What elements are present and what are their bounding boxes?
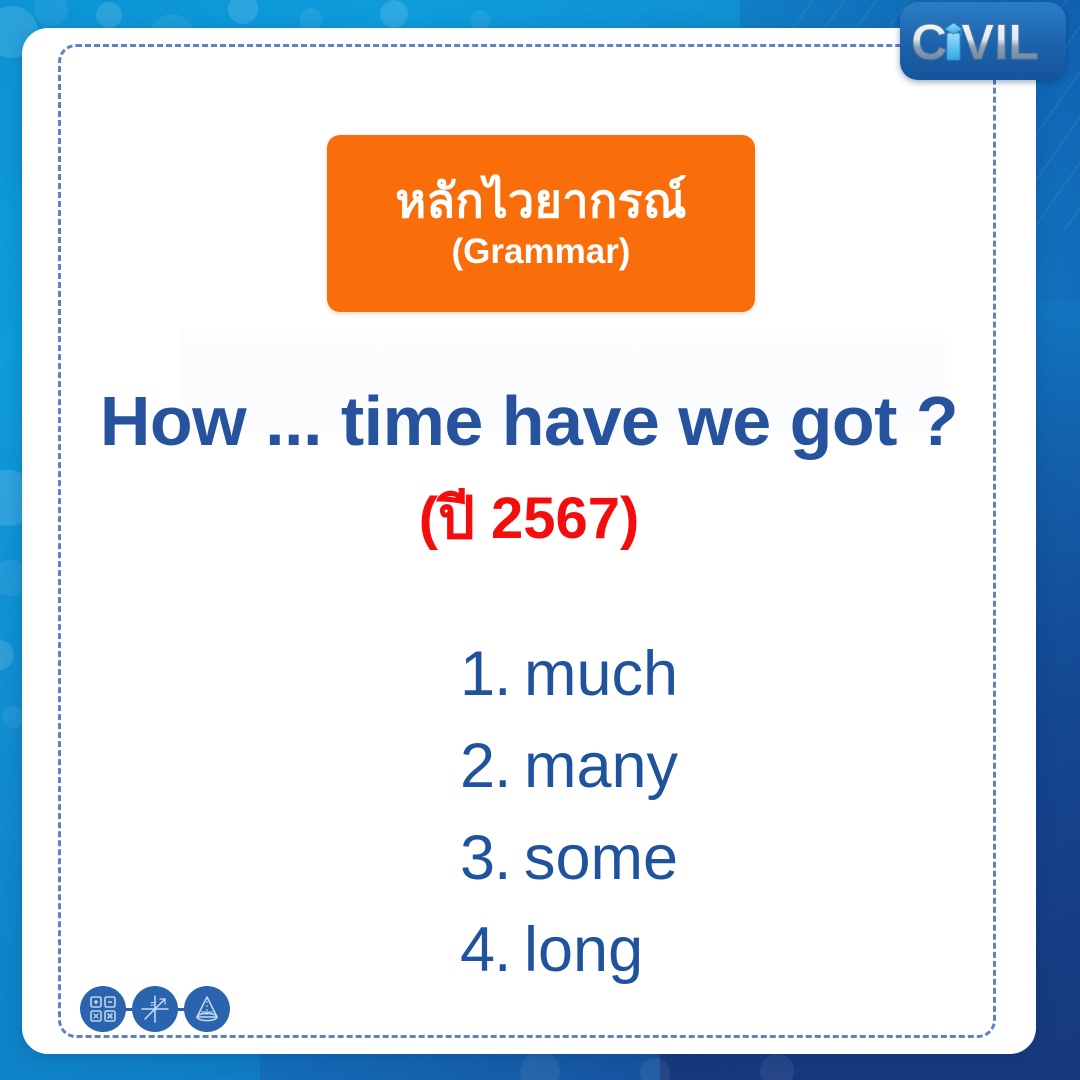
answer-choice-label: long <box>524 904 643 996</box>
answer-choice-1[interactable]: 1. much <box>460 628 678 720</box>
bokeh-circle <box>96 2 122 28</box>
content-card: หลักไวยากรณ์ (Grammar) How ... time have… <box>22 28 1036 1054</box>
answer-choice-label: many <box>524 720 678 812</box>
civil-logo-mark: C VIL <box>909 13 1057 69</box>
category-title-box: หลักไวยากรณ์ (Grammar) <box>327 135 755 312</box>
answer-choice-number: 1. <box>460 628 524 720</box>
coordinate-axes-icon <box>132 986 178 1032</box>
answer-choice-label: much <box>524 628 678 720</box>
bokeh-circle <box>380 0 408 28</box>
bokeh-circle <box>470 10 490 30</box>
poster-canvas: หลักไวยากรณ์ (Grammar) How ... time have… <box>0 0 1080 1080</box>
answer-choice-3[interactable]: 3. some <box>460 812 678 904</box>
bokeh-circle <box>2 706 24 728</box>
bokeh-circle <box>34 0 68 26</box>
bokeh-circle <box>0 640 14 670</box>
answer-choice-2[interactable]: 2. many <box>460 720 678 812</box>
calculator-icon <box>80 986 126 1032</box>
answer-choice-list: 1. much 2. many 3. some 4. long <box>460 628 678 996</box>
answer-choice-number: 3. <box>460 812 524 904</box>
bokeh-circle <box>300 8 322 30</box>
answer-choice-number: 2. <box>460 720 524 812</box>
bokeh-circle <box>760 1054 794 1080</box>
svg-text:C: C <box>911 14 947 69</box>
answer-choice-4[interactable]: 4. long <box>460 904 678 996</box>
bokeh-circle <box>520 1052 560 1080</box>
category-title-english: (Grammar) <box>452 233 631 272</box>
bokeh-circle <box>640 1058 670 1080</box>
civil-logo: C VIL <box>900 2 1066 80</box>
category-title-thai: หลักไวยากรณ์ <box>395 176 687 227</box>
answer-choice-number: 4. <box>460 904 524 996</box>
bokeh-circle <box>228 0 258 24</box>
question-text: How ... time have we got ? <box>22 386 1036 456</box>
cone-geometry-icon <box>184 986 230 1032</box>
footer-icon-group <box>80 986 230 1032</box>
answer-choice-label: some <box>524 812 678 904</box>
question-year-label: (ปี 2567) <box>22 490 1036 548</box>
svg-text:VIL: VIL <box>961 14 1039 69</box>
